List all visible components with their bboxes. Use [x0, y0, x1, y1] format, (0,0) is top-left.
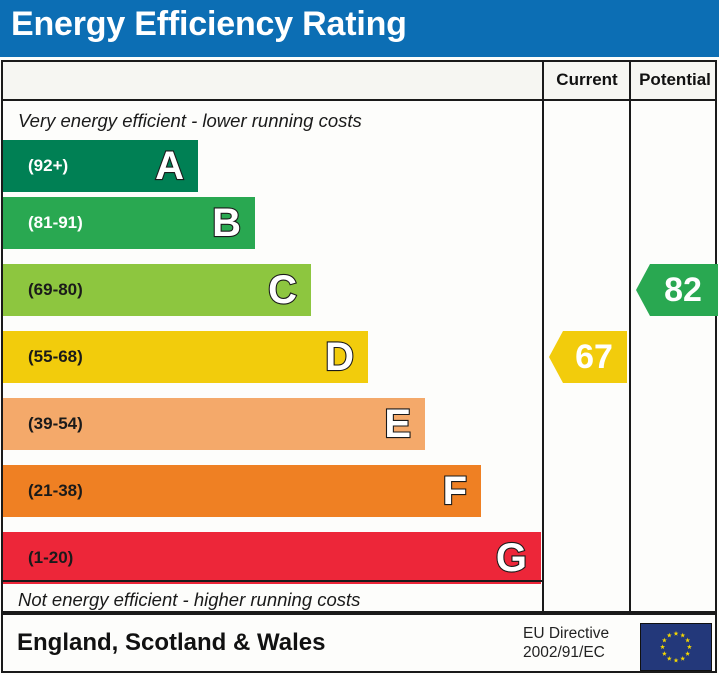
eu-directive-text: EU Directive 2002/91/EC	[523, 624, 609, 663]
band-e-letter: E	[384, 404, 411, 444]
chart-header: Energy Efficiency Rating	[0, 0, 719, 57]
divider-current	[542, 62, 544, 611]
band-d-letter: D	[325, 337, 354, 377]
band-a-letter: A	[155, 146, 184, 186]
eu-flag-icon	[640, 623, 712, 671]
caption-not-efficient: Not energy efficient - higher running co…	[3, 589, 542, 611]
band-d-range: (55-68)	[28, 347, 83, 367]
region-label: England, Scotland & Wales	[17, 629, 325, 657]
current-rating-value: 67	[563, 340, 613, 374]
band-f-letter: F	[443, 471, 467, 511]
current-rating-arrow: 67	[549, 331, 627, 383]
eu-directive-line2: 2002/91/EC	[523, 643, 609, 662]
band-d: (55-68) D	[3, 331, 368, 383]
chart-frame: Current Potential Very energy efficient …	[1, 60, 717, 613]
potential-rating-arrow: 82	[636, 264, 718, 316]
rating-bands: (92+) A (81-91) B (69-80) C (55-68) D (3…	[3, 140, 542, 580]
column-header-current: Current	[544, 70, 630, 90]
page-title: Energy Efficiency Rating	[11, 5, 407, 44]
band-g-range: (1-20)	[28, 548, 73, 568]
eu-directive-line1: EU Directive	[523, 624, 609, 643]
band-c: (69-80) C	[3, 264, 311, 316]
band-a: (92+) A	[3, 140, 198, 192]
epc-energy-efficiency-chart: Energy Efficiency Rating Current Potenti…	[0, 0, 719, 675]
band-a-range: (92+)	[28, 156, 68, 176]
band-b-letter: B	[212, 203, 241, 243]
chart-footer: England, Scotland & Wales EU Directive 2…	[1, 613, 717, 673]
band-c-letter: C	[268, 270, 297, 310]
column-header-potential: Potential	[631, 70, 719, 90]
potential-rating-value: 82	[652, 273, 702, 307]
band-c-range: (69-80)	[28, 280, 83, 300]
caption-very-efficient: Very energy efficient - lower running co…	[3, 110, 542, 132]
band-g-letter: G	[496, 538, 527, 578]
band-f: (21-38) F	[3, 465, 481, 517]
band-e-range: (39-54)	[28, 414, 83, 434]
caption-divider	[3, 580, 542, 582]
band-g: (1-20) G	[3, 532, 541, 584]
band-e: (39-54) E	[3, 398, 425, 450]
band-b: (81-91) B	[3, 197, 255, 249]
band-f-range: (21-38)	[28, 481, 83, 501]
divider-potential	[629, 62, 631, 611]
band-b-range: (81-91)	[28, 213, 83, 233]
